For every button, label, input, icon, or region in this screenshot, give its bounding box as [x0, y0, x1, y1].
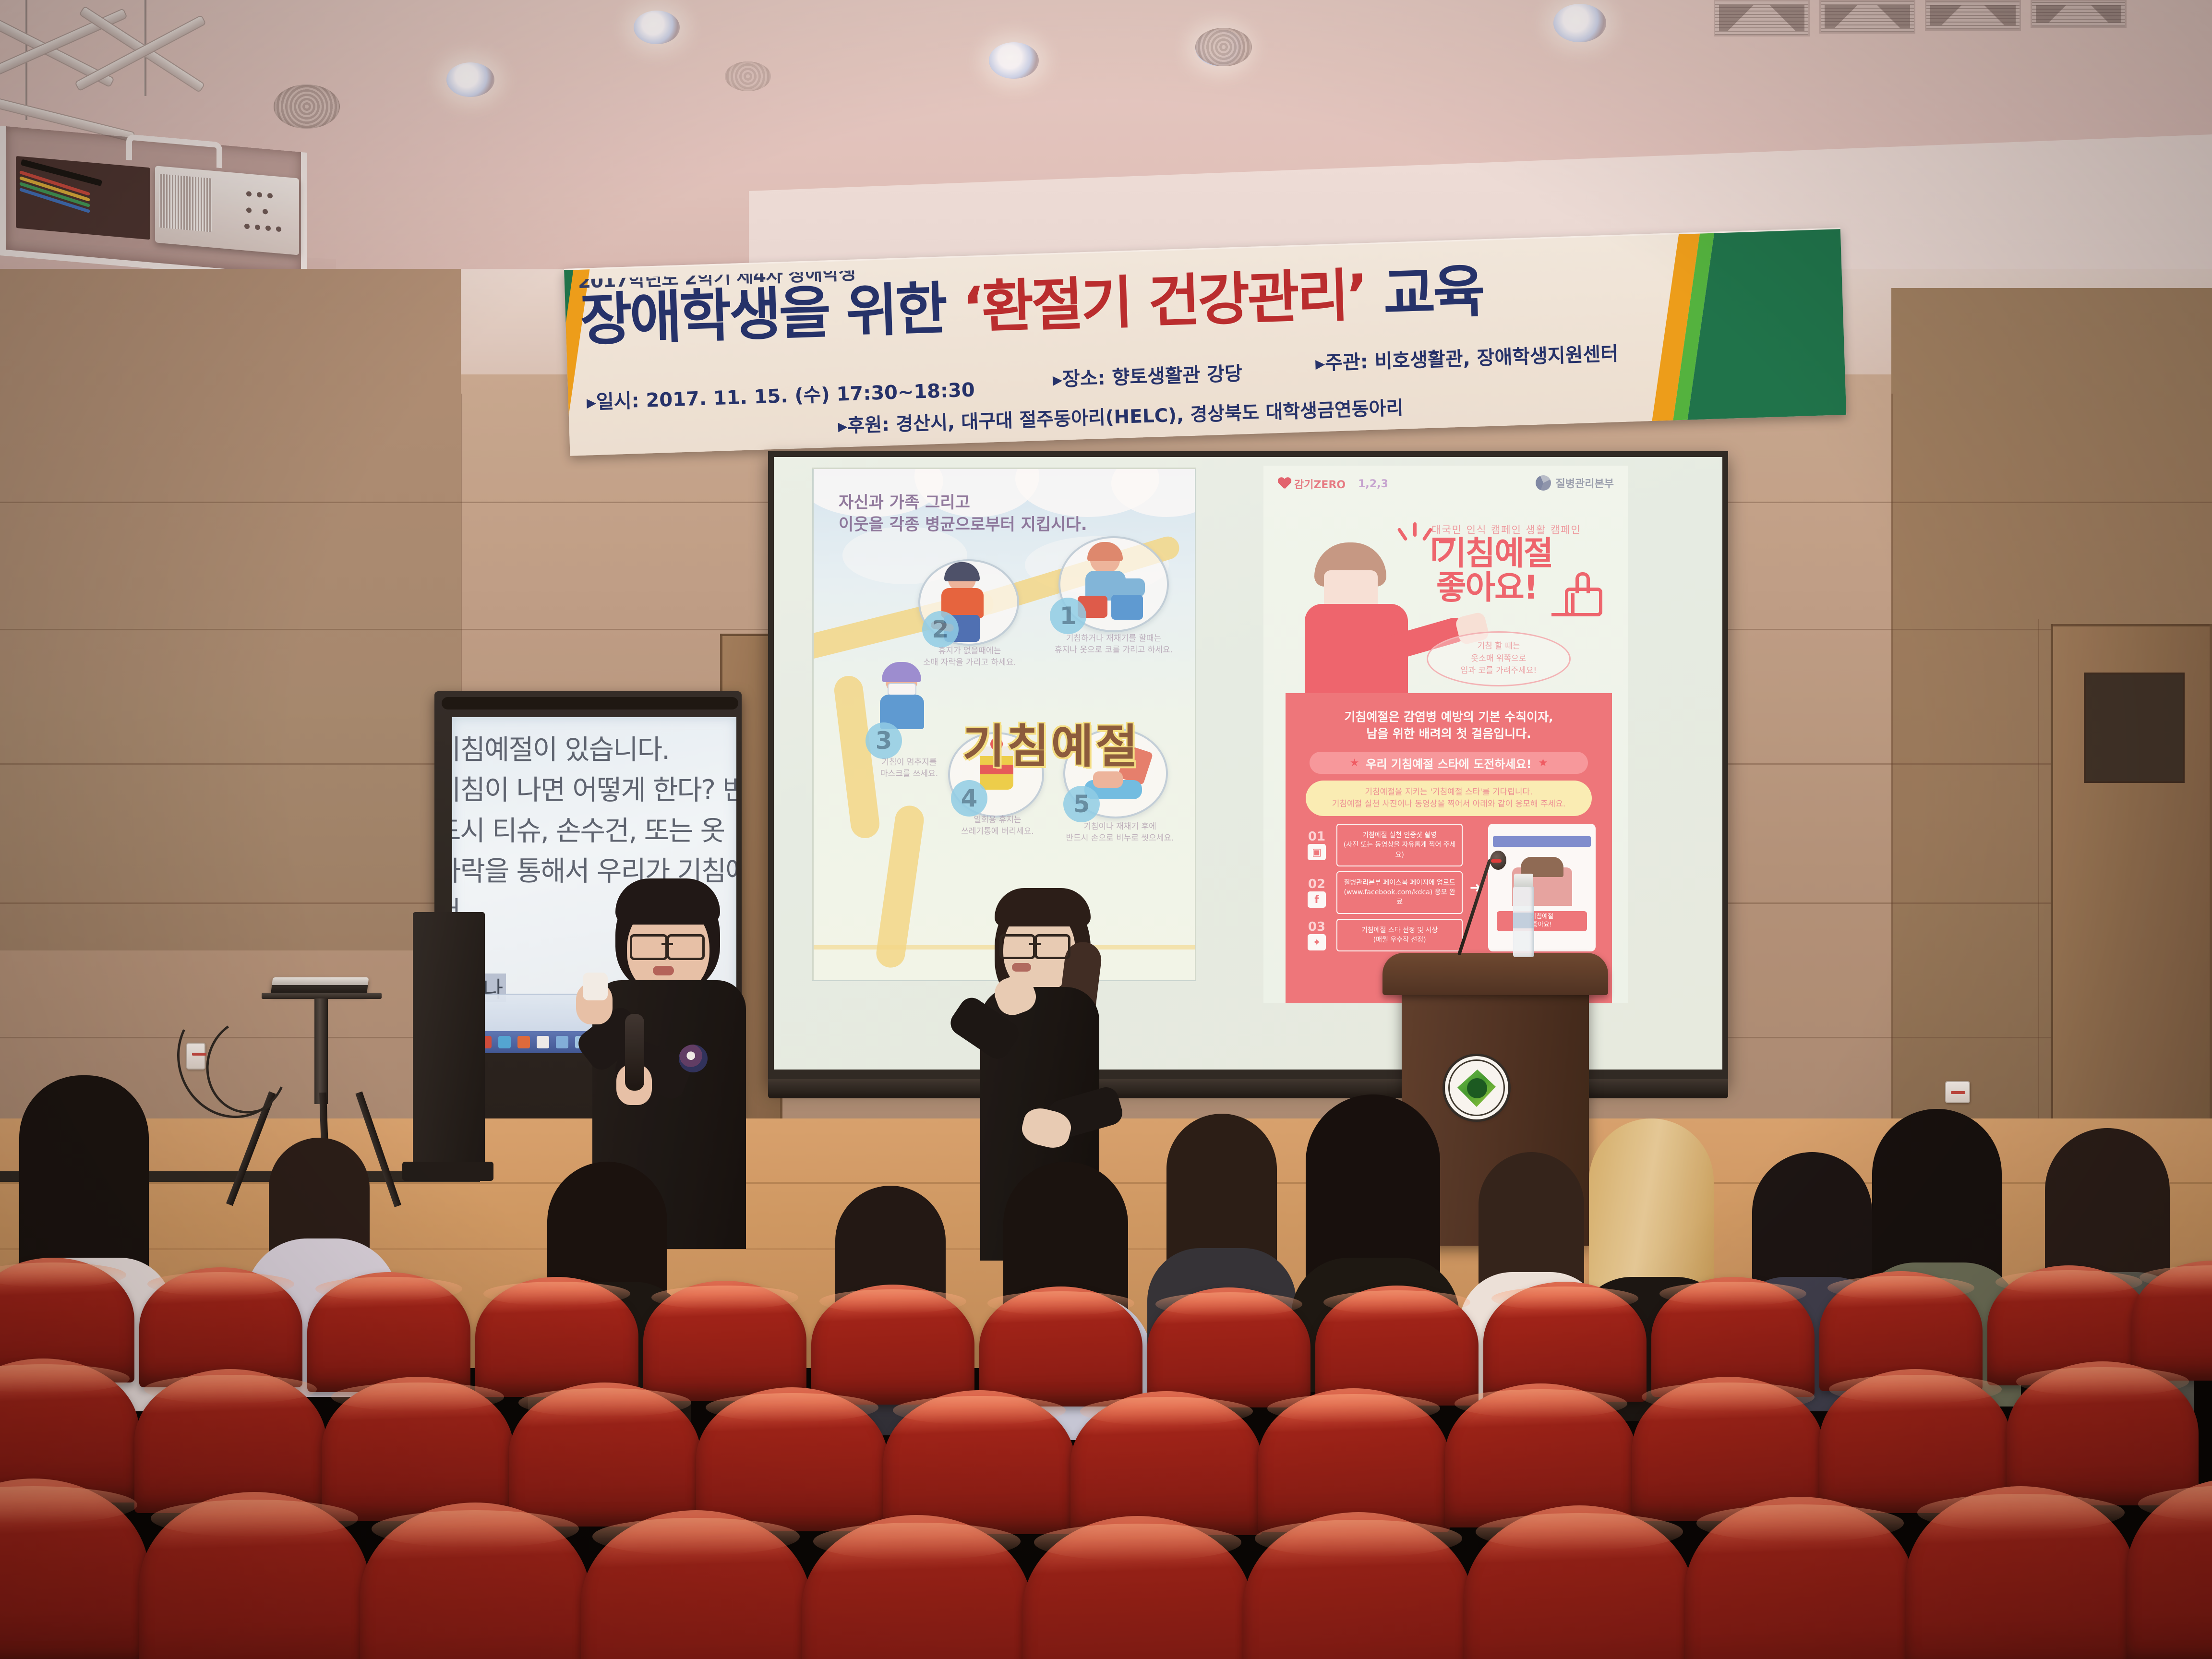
auditorium-seat[interactable] [802, 1515, 1032, 1659]
ceiling-downlight [989, 42, 1039, 79]
banner-host: ▸주관: 비호생활관, 장애학생지원센터 [1315, 338, 1619, 375]
floor-speaker-base [402, 1162, 493, 1181]
slide-left-step-number: 3 [866, 722, 902, 759]
slide-right-title: 기침예절 좋아요! [1436, 537, 1552, 605]
slide-left-step-number: 5 [1063, 786, 1100, 822]
wall-outlet[interactable] [186, 1043, 205, 1070]
gift-icon: ✦ [1308, 934, 1326, 950]
interpreter-bangs [995, 888, 1091, 926]
slide-right-phone-mockup: 기침예절 좋아요! [1488, 824, 1596, 951]
spark-icon [1413, 522, 1417, 537]
ceiling-hvac-grille [1714, 0, 1810, 36]
slide-right-panel-headline: 기침예절은 감염병 예방의 기본 수칙이자, 남을 위한 배려의 첫 걸음입니다… [1294, 709, 1603, 742]
logo-kdca: 질병관리본부 [1536, 475, 1614, 491]
auditorium-seat[interactable] [134, 1369, 326, 1513]
slide-right-step-text: 질병관리본부 페이스북 페이지에 업로드 (www.facebook.com/k… [1336, 871, 1463, 914]
ceiling-downlight [446, 62, 494, 97]
auditorium-seat[interactable] [1906, 1486, 2136, 1659]
app-icon[interactable] [556, 1036, 568, 1048]
auditorium-seat[interactable] [1685, 1497, 1915, 1659]
water-bottle-cap [1514, 874, 1533, 887]
ceiling-downlight [1553, 4, 1606, 42]
slide-left-path [875, 804, 926, 969]
banner-title: 장애학생을 위한 ‘환절기 건강관리’ 교육 [579, 254, 1747, 349]
auditorium-seat[interactable] [0, 1479, 149, 1659]
ceiling-hvac-grille [1819, 0, 1915, 34]
microphone-led-icon [1491, 859, 1502, 863]
auditorium-seat[interactable] [979, 1286, 1142, 1407]
auditorium-seat[interactable] [2131, 1261, 2212, 1381]
auditorium-seat[interactable] [581, 1510, 811, 1659]
auditorium-seat[interactable] [1258, 1388, 1450, 1532]
camera-icon: ▣ [1308, 844, 1326, 860]
left-wall [0, 269, 461, 950]
slide-right-step-number: 01 ▣ [1302, 829, 1332, 860]
slide-left-step-caption: 기침이나 재채기 후에 반드시 손으로 비누로 씻으세요. [1053, 821, 1187, 844]
slide-right-step-text: 기침예절 스타 선정 및 시상 (매월 우수작 선정) [1336, 919, 1463, 952]
slide-cough-etiquette-campaign: 감기ZERO 1,2,3 질병관리본부 대국민 인식 캠페인 생활 캠페인 기침… [1263, 466, 1628, 1003]
podium-top [1382, 953, 1608, 995]
auditorium-seat[interactable] [475, 1277, 638, 1397]
logo-kdca-label: 질병관리본부 [1556, 475, 1614, 491]
ceiling-air-diffuser [274, 84, 340, 129]
step-no-label: 03 [1308, 920, 1325, 934]
ceiling-hvac-grille [1925, 0, 2021, 31]
step-no-label: 01 [1308, 829, 1325, 844]
ceiling-air-diffuser [1195, 28, 1252, 66]
slide-right-panel-note: 기침예절을 지키는 '기침예절 스타'를 기다립니다. 기침예절 실천 사진이나… [1306, 781, 1592, 816]
university-emblem [1445, 1056, 1508, 1119]
slide-right-step: 02 f 질병관리본부 페이스북 페이지에 업로드 (www.facebook.… [1302, 871, 1463, 914]
water-bottle[interactable] [1513, 885, 1534, 957]
auditorium-seat[interactable] [811, 1285, 974, 1405]
banner-title-part1: 장애학생을 위한 [579, 275, 963, 353]
slide-left-step-number: 1 [1050, 598, 1086, 634]
projector-vent-grille [159, 174, 212, 232]
banner-place: ▸장소: 향토생활관 강당 [1052, 358, 1243, 392]
auditorium-seat[interactable] [1315, 1286, 1479, 1406]
slide-right-logos: 감기ZERO 1,2,3 [1278, 476, 1388, 492]
facebook-icon: f [1308, 891, 1326, 908]
auditorium-seat[interactable] [139, 1492, 370, 1659]
auditorium-seat[interactable] [322, 1377, 514, 1521]
auditorium-seat[interactable] [1445, 1383, 1637, 1527]
auditorium-seat[interactable] [1070, 1391, 1262, 1535]
slide-right-speech-bubble: 기침 할 때는 옷소매 위쪽으로 입과 코를 가려주세요! [1427, 631, 1571, 686]
wall-light-switch[interactable] [1945, 1081, 1970, 1103]
auditorium-seat[interactable] [883, 1390, 1075, 1534]
auditorium-seat[interactable] [307, 1272, 470, 1392]
projector-cage [0, 126, 307, 282]
auditorium-seat[interactable] [2007, 1361, 2199, 1505]
presenter-brooch [679, 1045, 708, 1072]
step-no-label: 02 [1308, 877, 1325, 891]
door-window [2084, 673, 2185, 783]
phone-caption: 기침예절 좋아요! [1497, 911, 1587, 931]
banner-title-part2: ‘환절기 건강관리’ [962, 262, 1367, 341]
projector-wiring [16, 156, 150, 240]
logo-cold-zero: 감기ZERO [1278, 476, 1346, 492]
auditorium-seat[interactable] [360, 1503, 590, 1659]
slide-right-step-number: 02 f [1302, 877, 1332, 908]
presenter-glasses [630, 934, 705, 955]
interpreter-glasses [999, 934, 1070, 954]
auditorium-seat[interactable] [1147, 1287, 1310, 1407]
banner-title-part3: 교육 [1365, 258, 1484, 328]
spark-icon [1397, 528, 1408, 541]
slide-left-headline: 자신과 가족 그리고 이웃을 각종 병균으로부터 지킵시다. [839, 492, 1087, 536]
auditorium-seat[interactable] [509, 1382, 701, 1527]
browser-icon[interactable] [498, 1036, 511, 1048]
projector [155, 166, 299, 255]
caption-monitor-bezel-top [442, 697, 738, 709]
mail-icon[interactable] [517, 1036, 530, 1048]
slide-right-steps-grid: 01 ▣ 기침예절 실천 인증샷 촬영 (사진 또는 동영상을 자유롭게 찍어 … [1302, 824, 1596, 951]
auditorium-seat[interactable] [1243, 1512, 1474, 1659]
phone-header-bar [1493, 836, 1591, 847]
logo-campaign-123: 1,2,3 [1358, 478, 1388, 490]
heart-icon [1278, 478, 1291, 490]
slide-right-steps: 01 ▣ 기침예절 실천 인증샷 촬영 (사진 또는 동영상을 자유롭게 찍어 … [1302, 824, 1463, 951]
slide-right-step-text: 기침예절 실천 인증샷 촬영 (사진 또는 동영상을 자유롭게 찍어 주세요) [1336, 824, 1463, 866]
ceiling-downlight [634, 11, 680, 44]
ceiling-hvac-grille [2031, 0, 2127, 28]
chat-icon[interactable] [537, 1036, 549, 1048]
logo-campaign-123-label: 1,2,3 [1358, 478, 1388, 490]
auditorium-scene: 2017학년도 2학기 제4차 장애학생 장애학생을 위한 ‘환절기 건강관리’… [0, 0, 2212, 1659]
auditorium-seat[interactable] [2127, 1478, 2212, 1659]
slide-left-step-number: 4 [951, 780, 987, 817]
slide-right-step: 03 ✦ 기침예절 스타 선정 및 시상 (매월 우수작 선정) [1302, 919, 1463, 952]
auditorium-seat[interactable] [1464, 1505, 1695, 1659]
logo-cold-zero-label: 감기ZERO [1294, 476, 1346, 492]
side-door-right[interactable] [2051, 624, 2212, 1166]
taeguk-icon [1536, 475, 1551, 491]
thumbs-up-icon [1565, 572, 1602, 616]
presenter-hair-front [615, 878, 720, 925]
ceiling-air-diffuser [725, 61, 771, 91]
auditorium-seat[interactable] [1483, 1282, 1647, 1402]
auditorium-seat[interactable] [643, 1281, 806, 1401]
auditorium-seat[interactable] [696, 1387, 888, 1531]
tripod-column [314, 998, 328, 1104]
star-icon: ★ [1350, 757, 1359, 769]
floor-speaker [413, 912, 485, 1181]
slide-right-panel-pill: ★ 우리 기침예절 스타에 도전하세요! ★ [1310, 752, 1588, 774]
handheld-microphone[interactable] [625, 1014, 644, 1091]
slide-left-big-title: 기침예절 [962, 709, 1140, 776]
star-icon: ★ [1539, 757, 1548, 769]
slide-left-step-caption: 기침하거나 재채기를 할때는 휴지나 옷으로 코를 가리고 하세요. [1044, 633, 1183, 656]
auditorium-seat[interactable] [1022, 1516, 1253, 1659]
slide-right-panel-pill-label: 우리 기침예절 스타에 도전하세요! [1366, 755, 1531, 771]
slide-right-step: 01 ▣ 기침예절 실천 인증샷 촬영 (사진 또는 동영상을 자유롭게 찍어 … [1302, 824, 1463, 866]
emblem-center-icon [1467, 1078, 1487, 1098]
slide-left-step-number: 2 [922, 611, 959, 648]
slide-left-step-caption: 일회용 휴지는 쓰레기통에 버리세요. [938, 815, 1058, 838]
presenter-white-object [583, 973, 608, 1000]
slide-right-step-number: 03 ✦ [1302, 920, 1332, 950]
